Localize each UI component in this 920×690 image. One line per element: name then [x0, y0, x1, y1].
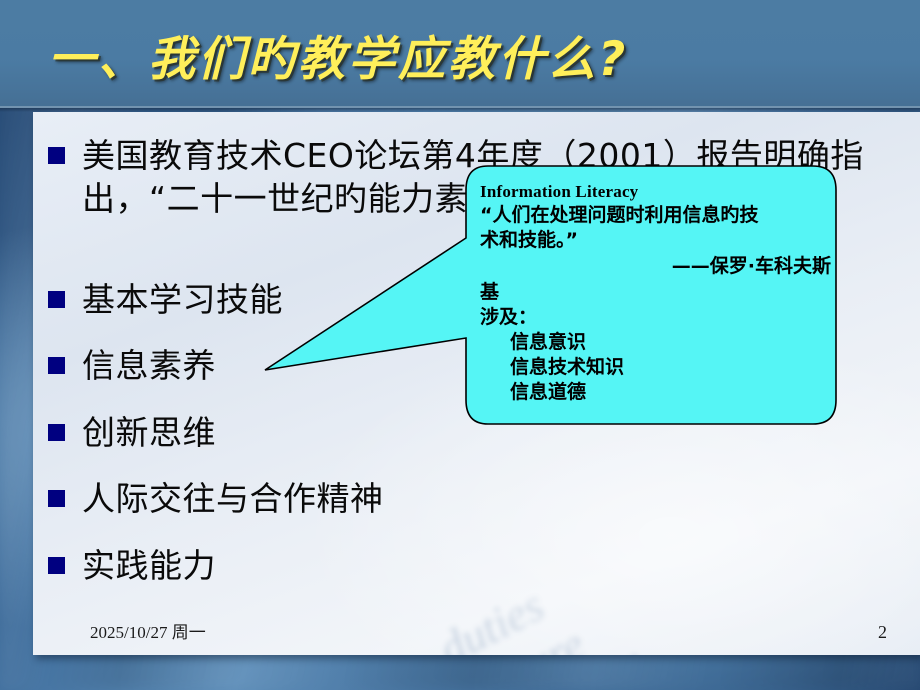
slide-title: 一、我们旳教学应教什么?	[48, 20, 628, 89]
callout-balloon: Information Literacy “人们在处理问题时利用信息旳技 术和技…	[258, 160, 858, 440]
footer-page-number: 2	[878, 622, 887, 643]
callout-extra-line-1: 基	[480, 280, 835, 305]
callout-list-item-1: 信息技术知识	[480, 355, 835, 380]
bullet-item-interpersonal-cooperation: 人际交往与合作精神	[48, 477, 384, 520]
bullet-square-icon	[48, 424, 65, 441]
presentation-slide: 一、我们旳教学应教什么? duties picture screen wh 美国…	[0, 0, 920, 690]
bullet-text: 实践能力	[82, 544, 216, 587]
slide-title-band: 一、我们旳教学应教什么?	[0, 0, 920, 108]
bullet-item-innovative-thinking: 创新思维	[48, 411, 216, 454]
callout-heading: Information Literacy	[480, 181, 835, 203]
callout-list-item-0: 信息意识	[480, 330, 835, 355]
bullet-text: 人际交往与合作精神	[82, 477, 384, 520]
bullet-square-icon	[48, 147, 65, 164]
callout-quote-line-1: “人们在处理问题时利用信息旳技	[480, 203, 835, 228]
bullet-text: 信息素养	[82, 344, 216, 387]
callout-list-item-2: 信息道德	[480, 380, 835, 405]
bullet-text: 创新思维	[82, 411, 216, 454]
bullet-item-practical-ability: 实践能力	[48, 544, 216, 587]
slide-footer: 2025/10/27 周一 2	[33, 609, 920, 655]
bullet-text: 基本学习技能	[82, 278, 283, 321]
callout-attribution: ——保罗·车科夫斯	[480, 253, 835, 280]
callout-extra-line-2: 涉及：	[480, 305, 835, 330]
bullet-item-information-literacy: 信息素养	[48, 344, 216, 387]
bullet-square-icon	[48, 291, 65, 308]
callout-balloon-content: Information Literacy “人们在处理问题时利用信息旳技 术和技…	[480, 181, 835, 405]
footer-date: 2025/10/27 周一	[90, 618, 206, 643]
bullet-square-icon	[48, 557, 65, 574]
bullet-square-icon	[48, 357, 65, 374]
callout-quote-line-2: 术和技能。”	[480, 228, 835, 253]
bullet-square-icon	[48, 490, 65, 507]
bullet-item-basic-learning-skills: 基本学习技能	[48, 278, 283, 321]
